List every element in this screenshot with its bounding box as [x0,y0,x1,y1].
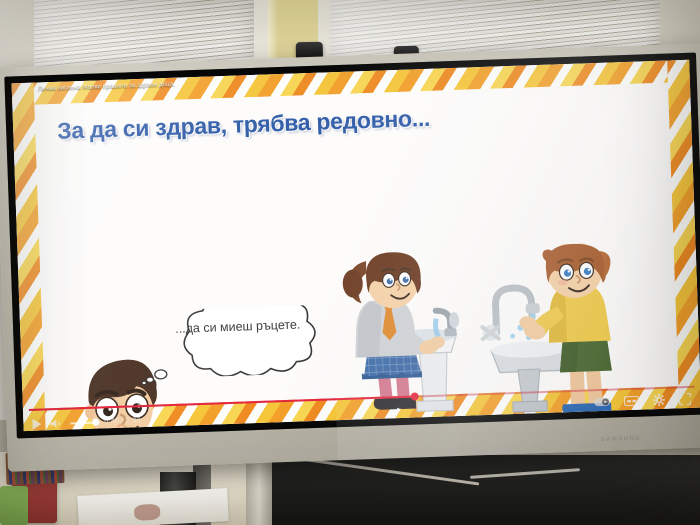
fullscreen-icon[interactable] [679,393,691,405]
display-screen[interactable]: Лична хигиена Малки правила за здрави де… [12,60,700,431]
volume-icon[interactable] [50,418,62,429]
time-display: 0:48 / 2:33 [104,417,141,425]
settings-gear-icon[interactable] [653,394,665,406]
presentation-slide: Лична хигиена Малки правила за здрави де… [12,60,700,431]
brand-logo: SAMSUNG [601,436,642,443]
photo-scene: SAMSUNG Лична хигиена Малки правила за з… [0,0,700,525]
subtitles-cc-icon[interactable] [624,396,639,407]
display-stand-shadow [270,455,700,525]
autoplay-toggle-icon[interactable] [594,397,610,408]
volume-slider[interactable] [70,421,96,424]
progress-knob[interactable] [411,392,419,400]
pencil-cup [0,486,28,525]
slide-title: За да си здрав, трябва редовно... [57,97,648,145]
thought-bubble: ...да си миеш ръцете. [155,305,329,379]
play-icon[interactable] [31,419,42,430]
display-stand-column [246,462,272,525]
interactive-display[interactable]: SAMSUNG Лична хигиена Малки правила за з… [0,43,700,472]
thought-bubble-dots [142,366,169,387]
